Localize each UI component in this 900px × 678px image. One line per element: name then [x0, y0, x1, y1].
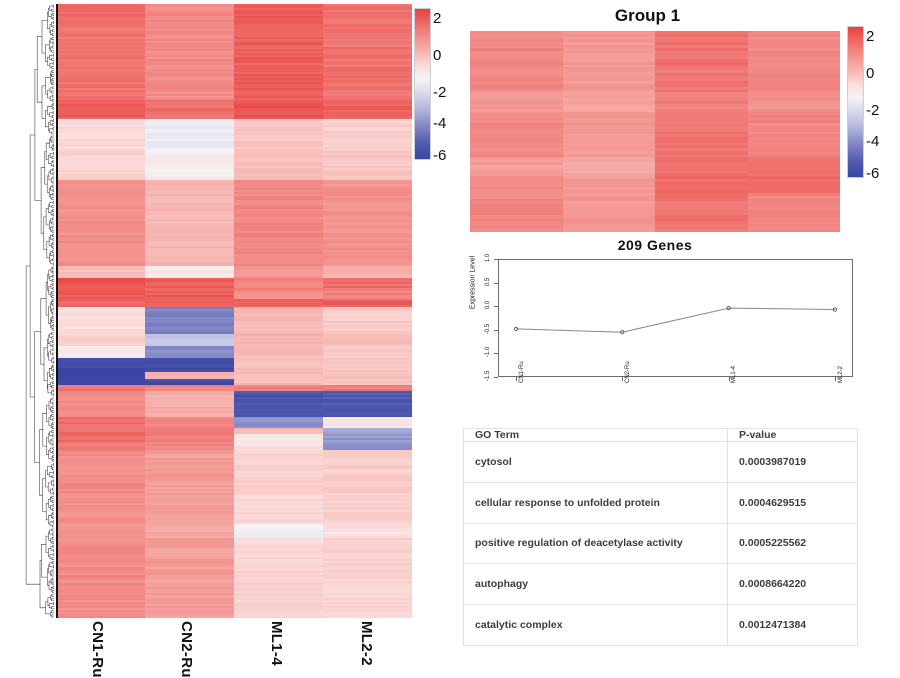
colorbar-tick: -6	[866, 166, 879, 181]
ytick-mark	[494, 306, 498, 307]
colorbar-tick: 0	[866, 66, 874, 81]
group1-colorbar-gradient	[847, 26, 864, 178]
colorbar-tick: -4	[866, 134, 879, 149]
main-colorbar: 2 0 -2 -4 -6	[414, 8, 431, 158]
group1-colorbar-ticks: 2 0 -2 -4 -6	[866, 26, 900, 176]
ytick-mark	[494, 353, 498, 354]
go-term-table-wrap: GO Term P-value cytosol0.0003987019cellu…	[463, 428, 858, 646]
colorbar-tick: -6	[433, 148, 446, 163]
go-pvalue-cell: 0.0003987019	[727, 442, 857, 483]
ytick-label: 1.0	[485, 248, 491, 268]
sample-label-cn1ru: CN1-Ru	[89, 621, 106, 678]
xtick-label: ML1-4	[731, 366, 737, 383]
go-term-cell: autophagy	[464, 564, 728, 605]
table-row: positive regulation of deacetylase activ…	[464, 523, 858, 564]
ytick-label: -1.5	[485, 366, 491, 386]
group1-heatmap-canvas	[470, 31, 840, 232]
line-plot-svg	[455, 237, 900, 422]
group1-heatmap-column	[470, 31, 563, 232]
group1-heatmap-column	[748, 31, 841, 232]
colorbar-tick: -2	[866, 103, 879, 118]
ytick-mark	[494, 330, 498, 331]
ytick-label: -1.0	[485, 342, 491, 362]
colorbar-tick: -2	[433, 85, 446, 100]
main-heatmap-canvas	[56, 4, 412, 618]
go-pvalue-cell: 0.0008664220	[727, 564, 857, 605]
heatmap-column	[145, 4, 234, 618]
go-term-cell: catalytic complex	[464, 605, 728, 646]
figure-root: 2 0 -2 -4 -6 CN1-Ru CN2-Ru ML1-4 ML2-2 G…	[0, 0, 900, 675]
ytick-label: -0.5	[485, 319, 491, 339]
ytick-label: 0.0	[485, 295, 491, 315]
ytick-mark	[494, 377, 498, 378]
xtick-label: CN2-Ru	[625, 361, 631, 383]
table-row: catalytic complex0.0012471384	[464, 605, 858, 646]
colorbar-tick: 0	[433, 48, 441, 63]
xtick-mark	[835, 377, 836, 381]
row-dendrogram	[2, 4, 54, 618]
ytick-mark	[494, 259, 498, 260]
group1-colorbar: 2 0 -2 -4 -6	[847, 26, 864, 176]
xtick-mark	[729, 377, 730, 381]
sample-label-ml14: ML1-4	[268, 621, 285, 666]
go-pvalue-cell: 0.0012471384	[727, 605, 857, 646]
go-term-table: GO Term P-value cytosol0.0003987019cellu…	[463, 428, 858, 646]
expression-line-plot-panel: 209 Genes Expression Level 1.00.50.0-0.5…	[455, 237, 900, 422]
go-pvalue-cell: 0.0005225562	[727, 523, 857, 564]
xtick-mark	[622, 377, 623, 381]
ytick-label: 0.5	[485, 272, 491, 292]
xtick-label: CN1-Ru	[519, 361, 525, 383]
table-row: cytosol0.0003987019	[464, 442, 858, 483]
main-heatmap-panel: 2 0 -2 -4 -6 CN1-Ru CN2-Ru ML1-4 ML2-2	[0, 0, 450, 675]
row-dendrogram-svg	[2, 4, 54, 618]
go-table-header-row: GO Term P-value	[464, 429, 858, 442]
table-row: cellular response to unfolded protein0.0…	[464, 482, 858, 523]
go-term-cell: positive regulation of deacetylase activ…	[464, 523, 728, 564]
sample-label-ml22: ML2-2	[358, 621, 375, 666]
go-term-cell: cellular response to unfolded protein	[464, 482, 728, 523]
colorbar-tick: 2	[433, 11, 441, 26]
group1-title: Group 1	[455, 6, 840, 26]
group1-heatmap-column	[655, 31, 748, 232]
go-table-header-pvalue: P-value	[727, 429, 857, 442]
xtick-label: ML2-2	[838, 366, 844, 383]
colorbar-tick: -4	[433, 116, 446, 131]
group1-panel: Group 1 2 0 -2 -4 -6	[455, 0, 900, 240]
go-table-body: cytosol0.0003987019cellular response to …	[464, 442, 858, 646]
go-table-header-term: GO Term	[464, 429, 728, 442]
heatmap-column	[234, 4, 323, 618]
main-colorbar-gradient	[414, 8, 431, 160]
heatmap-column	[323, 4, 412, 618]
colorbar-tick: 2	[866, 29, 874, 44]
sample-label-cn2ru: CN2-Ru	[178, 621, 195, 678]
go-term-cell: cytosol	[464, 442, 728, 483]
xtick-mark	[516, 377, 517, 381]
table-row: autophagy0.0008664220	[464, 564, 858, 605]
ytick-mark	[494, 283, 498, 284]
heatmap-column	[56, 4, 145, 618]
go-pvalue-cell: 0.0004629515	[727, 482, 857, 523]
group1-heatmap-column	[563, 31, 656, 232]
